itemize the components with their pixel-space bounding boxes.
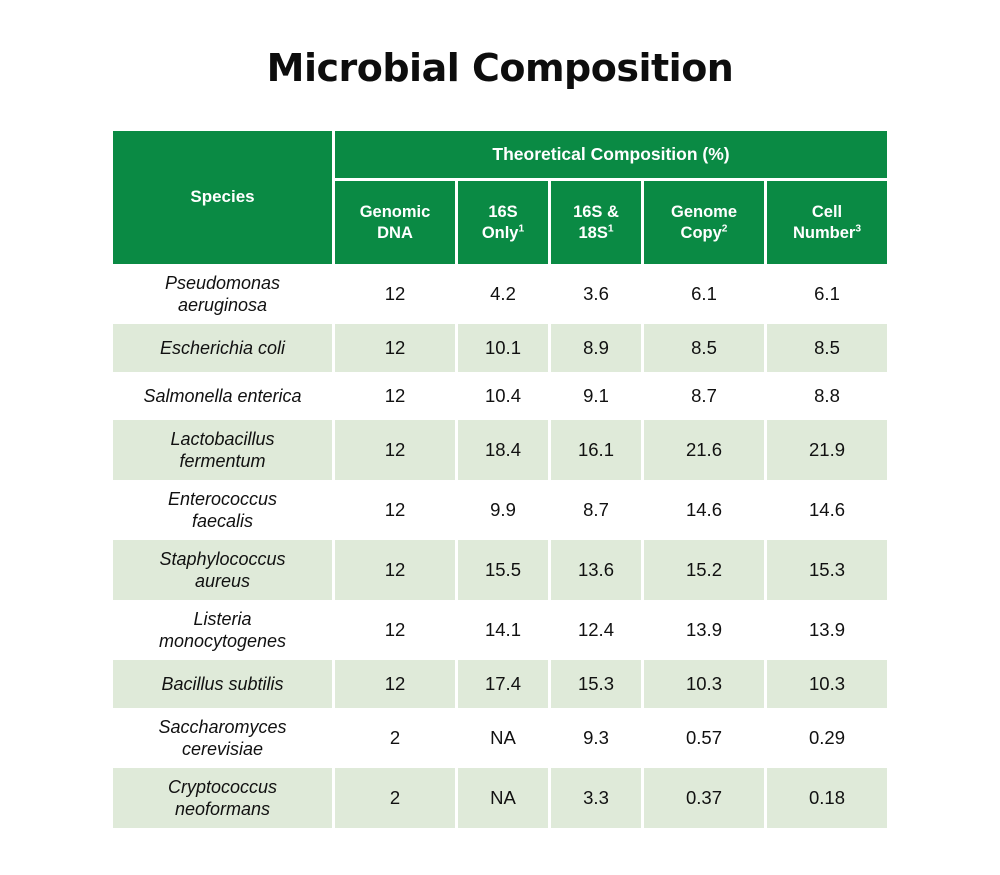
cell-genome-copy: 21.6 — [644, 420, 767, 480]
table-row: Bacillus subtilis1217.415.310.310.3 — [113, 660, 887, 708]
cell-16s-only: NA — [458, 768, 551, 828]
table-row: Enterococcusfaecalis129.98.714.614.6 — [113, 480, 887, 540]
species-line-1: Escherichia coli — [160, 338, 285, 358]
cell-16s-only: 4.2 — [458, 264, 551, 324]
column-header-16s-and-18s: 16S & 18S1 — [551, 181, 644, 264]
cell-cell-number: 0.29 — [767, 708, 887, 768]
cell-16s-only: 10.1 — [458, 324, 551, 372]
column-header-genomic-dna: Genomic DNA — [335, 181, 458, 264]
cell-16s-and-18s: 3.3 — [551, 768, 644, 828]
header-line-2: Copy — [681, 224, 722, 242]
composition-table-wrapper: Species Theoretical Composition (%) Geno… — [113, 131, 887, 828]
header-line-1: 16S — [488, 203, 517, 221]
cell-cell-number: 0.18 — [767, 768, 887, 828]
species-line-1: Staphylococcus — [159, 549, 285, 569]
cell-16s-only: 9.9 — [458, 480, 551, 540]
cell-genome-copy: 8.5 — [644, 324, 767, 372]
cell-genomic-dna: 12 — [335, 540, 458, 600]
footnote-marker: 1 — [608, 223, 614, 234]
cell-genome-copy: 0.57 — [644, 708, 767, 768]
species-line-1: Pseudomonas — [165, 273, 280, 293]
cell-cell-number: 10.3 — [767, 660, 887, 708]
column-header-theoretical-composition: Theoretical Composition (%) — [335, 131, 887, 181]
cell-species: Enterococcusfaecalis — [113, 480, 335, 540]
microbial-composition-table: Species Theoretical Composition (%) Geno… — [113, 131, 887, 828]
cell-cell-number: 21.9 — [767, 420, 887, 480]
column-header-cell-number: Cell Number3 — [767, 181, 887, 264]
table-row: Cryptococcusneoformans2NA3.30.370.18 — [113, 768, 887, 828]
table-row: Lactobacillusfermentum1218.416.121.621.9 — [113, 420, 887, 480]
cell-16s-and-18s: 8.7 — [551, 480, 644, 540]
cell-species: Cryptococcusneoformans — [113, 768, 335, 828]
cell-species: Salmonella enterica — [113, 372, 335, 420]
cell-species: Saccharomycescerevisiae — [113, 708, 335, 768]
cell-genome-copy: 10.3 — [644, 660, 767, 708]
header-line-2: Number — [793, 224, 855, 242]
cell-cell-number: 14.6 — [767, 480, 887, 540]
table-row: Escherichia coli1210.18.98.58.5 — [113, 324, 887, 372]
header-line-1: Genomic — [360, 203, 431, 221]
table-row: Saccharomycescerevisiae2NA9.30.570.29 — [113, 708, 887, 768]
cell-cell-number: 13.9 — [767, 600, 887, 660]
header-line-2: DNA — [377, 224, 413, 242]
cell-genomic-dna: 2 — [335, 768, 458, 828]
species-line-1: Salmonella enterica — [143, 386, 301, 406]
table-row: Pseudomonasaeruginosa124.23.66.16.1 — [113, 264, 887, 324]
species-line-2: aeruginosa — [178, 295, 267, 315]
cell-species: Staphylococcusaureus — [113, 540, 335, 600]
header-line-1: 16S & — [573, 203, 619, 221]
table-row: Salmonella enterica1210.49.18.78.8 — [113, 372, 887, 420]
header-line-1: Cell — [812, 203, 842, 221]
table-header: Species Theoretical Composition (%) Geno… — [113, 131, 887, 264]
species-line-2: fermentum — [179, 451, 265, 471]
cell-16s-and-18s: 9.1 — [551, 372, 644, 420]
cell-genome-copy: 13.9 — [644, 600, 767, 660]
cell-16s-and-18s: 15.3 — [551, 660, 644, 708]
cell-16s-only: 17.4 — [458, 660, 551, 708]
cell-genome-copy: 14.6 — [644, 480, 767, 540]
cell-16s-and-18s: 3.6 — [551, 264, 644, 324]
footnote-marker: 2 — [722, 223, 728, 234]
cell-genome-copy: 0.37 — [644, 768, 767, 828]
species-line-1: Bacillus subtilis — [161, 674, 283, 694]
footnote-marker: 3 — [855, 223, 861, 234]
cell-species: Listeriamonocytogenes — [113, 600, 335, 660]
cell-genomic-dna: 12 — [335, 324, 458, 372]
species-line-2: aureus — [195, 571, 250, 591]
cell-genome-copy: 6.1 — [644, 264, 767, 324]
cell-species: Bacillus subtilis — [113, 660, 335, 708]
column-header-16s-only: 16S Only1 — [458, 181, 551, 264]
species-line-1: Saccharomyces — [158, 717, 286, 737]
cell-cell-number: 8.5 — [767, 324, 887, 372]
species-line-2: monocytogenes — [159, 631, 286, 651]
cell-genomic-dna: 12 — [335, 264, 458, 324]
cell-genomic-dna: 2 — [335, 708, 458, 768]
cell-genome-copy: 15.2 — [644, 540, 767, 600]
cell-genomic-dna: 12 — [335, 480, 458, 540]
table-body: Pseudomonasaeruginosa124.23.66.16.1Esche… — [113, 264, 887, 828]
cell-cell-number: 8.8 — [767, 372, 887, 420]
header-row-group: Species Theoretical Composition (%) — [113, 131, 887, 181]
species-line-1: Lactobacillus — [170, 429, 274, 449]
cell-16s-and-18s: 12.4 — [551, 600, 644, 660]
cell-genomic-dna: 12 — [335, 372, 458, 420]
header-line-2: 18S — [578, 224, 607, 242]
header-line-1: Genome — [671, 203, 737, 221]
page-title: Microbial Composition — [0, 46, 1000, 90]
species-line-2: neoformans — [175, 799, 270, 819]
cell-genomic-dna: 12 — [335, 420, 458, 480]
footnote-marker: 1 — [519, 223, 525, 234]
page-root: Microbial Composition Species Theoretica… — [0, 0, 1000, 875]
cell-16s-only: 18.4 — [458, 420, 551, 480]
cell-species: Escherichia coli — [113, 324, 335, 372]
cell-species: Pseudomonasaeruginosa — [113, 264, 335, 324]
cell-16s-only: 14.1 — [458, 600, 551, 660]
header-line-2: Only — [482, 224, 519, 242]
table-row: Staphylococcusaureus1215.513.615.215.3 — [113, 540, 887, 600]
cell-16s-and-18s: 9.3 — [551, 708, 644, 768]
species-line-2: cerevisiae — [182, 739, 263, 759]
cell-species: Lactobacillusfermentum — [113, 420, 335, 480]
cell-16s-only: NA — [458, 708, 551, 768]
column-header-genome-copy: Genome Copy2 — [644, 181, 767, 264]
cell-genome-copy: 8.7 — [644, 372, 767, 420]
cell-cell-number: 6.1 — [767, 264, 887, 324]
cell-genomic-dna: 12 — [335, 600, 458, 660]
species-line-1: Listeria — [193, 609, 251, 629]
cell-cell-number: 15.3 — [767, 540, 887, 600]
cell-genomic-dna: 12 — [335, 660, 458, 708]
cell-16s-and-18s: 13.6 — [551, 540, 644, 600]
table-row: Listeriamonocytogenes1214.112.413.913.9 — [113, 600, 887, 660]
cell-16s-and-18s: 16.1 — [551, 420, 644, 480]
species-line-1: Enterococcus — [168, 489, 277, 509]
species-line-1: Cryptococcus — [168, 777, 277, 797]
cell-16s-and-18s: 8.9 — [551, 324, 644, 372]
cell-16s-only: 10.4 — [458, 372, 551, 420]
column-header-species: Species — [113, 131, 335, 264]
cell-16s-only: 15.5 — [458, 540, 551, 600]
species-line-2: faecalis — [192, 511, 253, 531]
